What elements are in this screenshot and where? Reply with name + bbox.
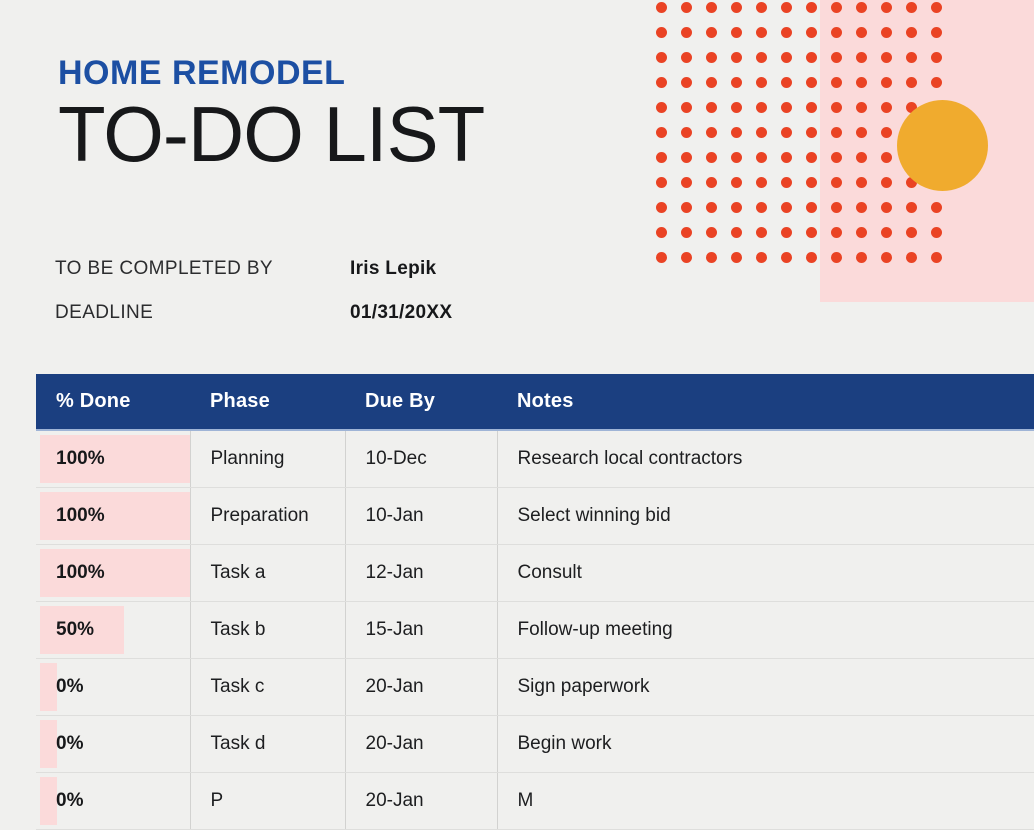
dot [806, 127, 817, 138]
dot [931, 152, 942, 163]
dot [656, 202, 667, 213]
cell-percent-done[interactable]: 0% [36, 772, 190, 829]
assignee-label: TO BE COMPLETED BY [55, 258, 350, 280]
cell-due-by[interactable]: 12-Jan [345, 544, 497, 601]
dot [781, 202, 792, 213]
dot [856, 177, 867, 188]
dot [656, 27, 667, 38]
cell-due-by[interactable]: 20-Jan [345, 715, 497, 772]
column-header-phase[interactable]: Phase [190, 374, 345, 430]
cell-percent-done[interactable]: 0% [36, 715, 190, 772]
dot [781, 227, 792, 238]
dot [906, 177, 917, 188]
orange-circle-shape [897, 100, 988, 191]
dot [731, 202, 742, 213]
dot [931, 102, 942, 113]
percent-done-label: 100% [56, 448, 105, 470]
dot [931, 52, 942, 63]
dot [681, 252, 692, 263]
percent-done-label: 0% [56, 790, 83, 812]
dot [806, 252, 817, 263]
dot [831, 177, 842, 188]
dot [681, 77, 692, 88]
progress-bar [40, 663, 57, 711]
dot [831, 52, 842, 63]
dot [681, 177, 692, 188]
dot [806, 77, 817, 88]
dot [931, 177, 942, 188]
cell-percent-done[interactable]: 100% [36, 430, 190, 487]
dot [881, 227, 892, 238]
dot [856, 52, 867, 63]
table-row[interactable]: 50%Task b15-JanFollow-up meeting [36, 601, 1034, 658]
progress-bar [40, 720, 57, 768]
dot [806, 102, 817, 113]
dot [931, 2, 942, 13]
dot [681, 52, 692, 63]
dot [831, 77, 842, 88]
decorative-artwork [640, 0, 1034, 310]
dot [906, 77, 917, 88]
dot [856, 127, 867, 138]
dot [831, 152, 842, 163]
dot [706, 127, 717, 138]
dot [906, 152, 917, 163]
dot [681, 127, 692, 138]
percent-done-label: 0% [56, 733, 83, 755]
dot [806, 227, 817, 238]
cell-due-by[interactable]: 10-Dec [345, 430, 497, 487]
dot [831, 252, 842, 263]
dot [881, 2, 892, 13]
dot [806, 177, 817, 188]
column-header-notes[interactable]: Notes [497, 374, 1034, 430]
dot [731, 227, 742, 238]
deadline-label: DEADLINE [55, 302, 350, 324]
dot [856, 227, 867, 238]
todo-table: % Done Phase Due By Notes 100%Planning10… [36, 374, 1034, 830]
dot [706, 2, 717, 13]
dot [756, 202, 767, 213]
dot [731, 177, 742, 188]
dot [756, 252, 767, 263]
dot [706, 52, 717, 63]
dot [906, 102, 917, 113]
dot [656, 252, 667, 263]
dot [731, 102, 742, 113]
percent-done-label: 100% [56, 562, 105, 584]
dot [831, 102, 842, 113]
percent-done-label: 100% [56, 505, 105, 527]
percent-done-label: 0% [56, 676, 83, 698]
dot [856, 202, 867, 213]
cell-notes[interactable]: Consult [497, 544, 1034, 601]
dot [756, 127, 767, 138]
dot [731, 252, 742, 263]
dot [681, 102, 692, 113]
dot [931, 127, 942, 138]
dot [756, 2, 767, 13]
progress-bar [40, 777, 57, 825]
dot-grid-pattern [656, 0, 956, 262]
dot [906, 227, 917, 238]
dot [731, 2, 742, 13]
dot [681, 202, 692, 213]
dot [656, 2, 667, 13]
cell-phase[interactable]: Planning [190, 430, 345, 487]
table-row[interactable]: 100%Preparation10-JanSelect winning bid [36, 487, 1034, 544]
dot [881, 252, 892, 263]
dot [781, 102, 792, 113]
dot [881, 177, 892, 188]
dot [831, 227, 842, 238]
table-row[interactable]: 0%Task d20-JanBegin work [36, 715, 1034, 772]
dot [781, 127, 792, 138]
cell-due-by[interactable]: 20-Jan [345, 772, 497, 829]
dot [706, 227, 717, 238]
dot [781, 252, 792, 263]
dot [706, 252, 717, 263]
dot [781, 177, 792, 188]
dot [806, 202, 817, 213]
cell-notes[interactable]: Follow-up meeting [497, 601, 1034, 658]
cell-phase[interactable]: Task a [190, 544, 345, 601]
table-row[interactable]: 100%Planning10-DecResearch local contrac… [36, 430, 1034, 487]
dot [906, 127, 917, 138]
dot [906, 202, 917, 213]
dot [681, 2, 692, 13]
cell-due-by[interactable]: 15-Jan [345, 601, 497, 658]
dot [756, 27, 767, 38]
dot [806, 2, 817, 13]
column-header-due-by[interactable]: Due By [345, 374, 497, 430]
dot [756, 177, 767, 188]
table-header: % Done Phase Due By Notes [36, 374, 1034, 430]
dot [731, 152, 742, 163]
meta-info: TO BE COMPLETED BY Iris Lepik DEADLINE 0… [55, 258, 452, 346]
dot [831, 202, 842, 213]
dot [931, 77, 942, 88]
meta-row-assignee: TO BE COMPLETED BY Iris Lepik [55, 258, 452, 302]
dot [881, 152, 892, 163]
dot [906, 27, 917, 38]
cell-phase[interactable]: Task d [190, 715, 345, 772]
cell-notes[interactable]: Begin work [497, 715, 1034, 772]
eyebrow-title: HOME REMODEL [58, 56, 658, 90]
dot [831, 27, 842, 38]
dot [706, 27, 717, 38]
deadline-value: 01/31/20XX [350, 302, 452, 324]
dot [781, 52, 792, 63]
assignee-value: Iris Lepik [350, 258, 436, 280]
dot [881, 102, 892, 113]
dot [931, 252, 942, 263]
dot [706, 202, 717, 213]
cell-percent-done[interactable]: 100% [36, 487, 190, 544]
dot [681, 27, 692, 38]
cell-notes[interactable]: Select winning bid [497, 487, 1034, 544]
dot [781, 77, 792, 88]
page-header: HOME REMODEL TO-DO LIST [58, 56, 658, 176]
dot [856, 27, 867, 38]
cell-phase[interactable]: P [190, 772, 345, 829]
column-header-percent-done[interactable]: % Done [36, 374, 190, 430]
dot [881, 27, 892, 38]
table-body: 100%Planning10-DecResearch local contrac… [36, 430, 1034, 829]
cell-notes[interactable]: Research local contractors [497, 430, 1034, 487]
cell-notes[interactable]: Sign paperwork [497, 658, 1034, 715]
dot [731, 27, 742, 38]
dot [806, 52, 817, 63]
cell-notes[interactable]: M [497, 772, 1034, 829]
dot [781, 27, 792, 38]
dot [681, 227, 692, 238]
dot [831, 2, 842, 13]
dot [656, 227, 667, 238]
cell-phase[interactable]: Task b [190, 601, 345, 658]
dot [731, 52, 742, 63]
dot [856, 152, 867, 163]
dot [856, 2, 867, 13]
dot [906, 252, 917, 263]
table-header-row: % Done Phase Due By Notes [36, 374, 1034, 430]
dot [706, 102, 717, 113]
dot [706, 152, 717, 163]
table-row[interactable]: 100%Task a12-JanConsult [36, 544, 1034, 601]
dot [731, 77, 742, 88]
dot [906, 2, 917, 13]
dot [856, 77, 867, 88]
dot [781, 152, 792, 163]
cell-percent-done[interactable]: 50% [36, 601, 190, 658]
dot [881, 52, 892, 63]
percent-done-label: 50% [56, 619, 94, 641]
cell-due-by[interactable]: 10-Jan [345, 487, 497, 544]
dot [931, 27, 942, 38]
dot [706, 77, 717, 88]
pink-block-shape [820, 0, 1034, 302]
dot [756, 152, 767, 163]
cell-percent-done[interactable]: 100% [36, 544, 190, 601]
dot [806, 27, 817, 38]
dot [681, 152, 692, 163]
dot [756, 227, 767, 238]
cell-phase[interactable]: Preparation [190, 487, 345, 544]
table-row[interactable]: 0%Task c20-JanSign paperwork [36, 658, 1034, 715]
dot [881, 202, 892, 213]
dot [881, 127, 892, 138]
cell-percent-done[interactable]: 0% [36, 658, 190, 715]
dot [931, 227, 942, 238]
dot [856, 252, 867, 263]
table-row[interactable]: 0%P20-JanM [36, 772, 1034, 829]
dot [756, 52, 767, 63]
cell-phase[interactable]: Task c [190, 658, 345, 715]
dot [906, 52, 917, 63]
dot [831, 127, 842, 138]
dot [881, 77, 892, 88]
meta-row-deadline: DEADLINE 01/31/20XX [55, 302, 452, 346]
dot [656, 177, 667, 188]
cell-due-by[interactable]: 20-Jan [345, 658, 497, 715]
dot [931, 202, 942, 213]
todo-table-container: % Done Phase Due By Notes 100%Planning10… [36, 374, 1034, 830]
dot [781, 2, 792, 13]
dot [756, 102, 767, 113]
dot [756, 77, 767, 88]
dot [856, 102, 867, 113]
dot [806, 152, 817, 163]
page-title: TO-DO LIST [58, 94, 658, 176]
dot [706, 177, 717, 188]
dot [731, 127, 742, 138]
